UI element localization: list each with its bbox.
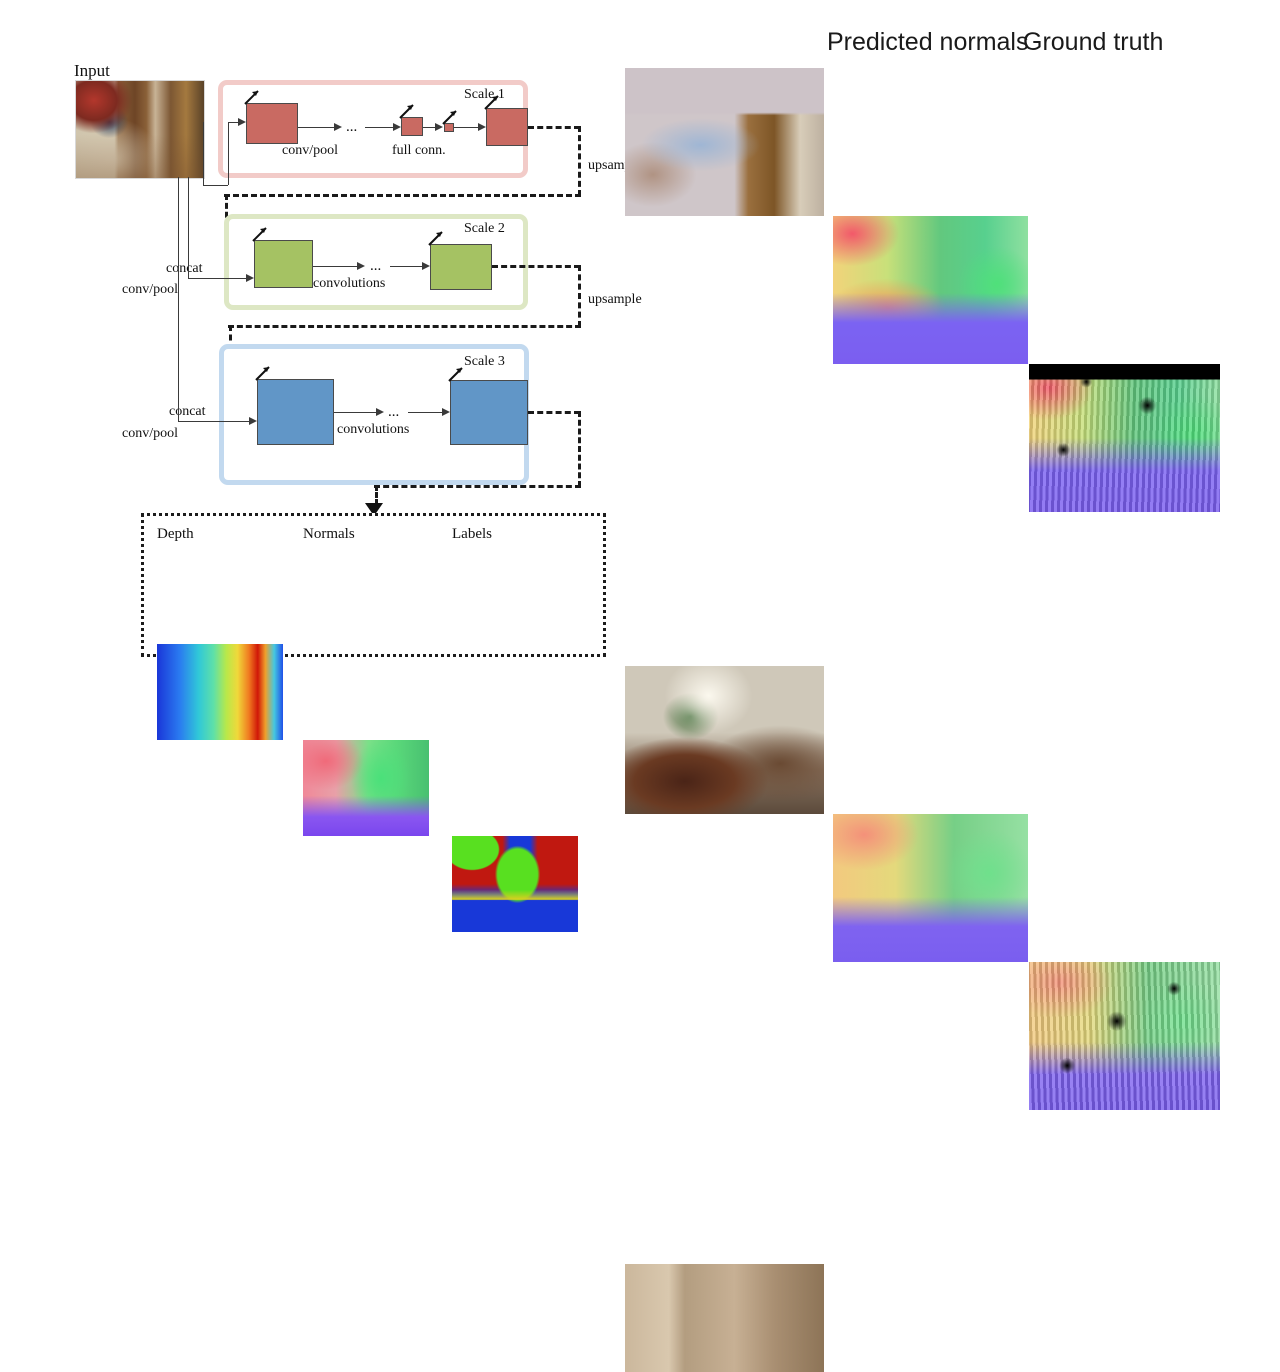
scale3-out-dash-down [375, 485, 378, 505]
scale1-block-4-tick [483, 94, 501, 110]
row-1-ground-truth-normals [1029, 364, 1220, 512]
scale3-block-2-tick [447, 366, 465, 382]
upsample1-dash-vert [578, 126, 581, 196]
scale3-arrow2-line [408, 412, 442, 413]
scale3-out-dash-horz [528, 411, 580, 414]
scale2-convolutions-label: convolutions [313, 277, 385, 291]
scale2-arrow1-head [357, 262, 365, 270]
scale2-convpool-label: conv/pool [122, 283, 178, 297]
scale2-block-1 [254, 240, 313, 288]
input-to-scale2-horz [188, 278, 246, 279]
upsample2-dash-vert [578, 265, 581, 327]
scale1-entry-arrow [238, 118, 246, 126]
scale-3-title: Scale 3 [464, 355, 505, 369]
output-labels-thumb [452, 836, 578, 932]
scale1-entry-line [228, 122, 238, 123]
results-grid: Predicted normals Ground truth [612, 0, 1280, 686]
scale2-block-2-tick [427, 230, 445, 246]
input-photo [75, 80, 205, 179]
architecture-diagram: Input Scale 1 ... conv/pool full c [0, 0, 612, 686]
input-label: Input [74, 62, 110, 79]
scale1-arrow3-line [423, 127, 435, 128]
row-2-predicted-normals [833, 814, 1028, 962]
outputs-panel [141, 513, 606, 657]
scale1-arrow4-head [478, 123, 486, 131]
scale2-block-2 [430, 244, 492, 290]
upsample1-dash-back [224, 194, 581, 197]
scale1-ellipsis: ... [346, 120, 357, 135]
scale3-block-1-tick [254, 365, 272, 381]
scale2-arrow1-line [313, 266, 357, 267]
upsample2-dash-back [228, 325, 581, 328]
input-to-scale2-vert [188, 177, 189, 278]
scale3-out-dash-vert [578, 411, 581, 487]
scale1-arrow1-head [334, 123, 342, 131]
input-to-scale3-vert [178, 177, 179, 421]
scale3-ellipsis: ... [388, 405, 399, 420]
scale1-block-2 [401, 117, 423, 136]
output-normals-thumb [303, 740, 429, 836]
output-labels-label: Labels [452, 527, 492, 542]
scale3-out-dash-back [374, 485, 581, 488]
scale3-arrow1-line [334, 412, 376, 413]
header-ground-truth: Ground truth [1023, 30, 1163, 55]
scale1-convpool-label: conv/pool [282, 144, 338, 158]
row-2-ground-truth-normals [1029, 962, 1220, 1110]
scale1-arrow2-line [365, 127, 393, 128]
scale3-concat-label: concat [169, 405, 206, 419]
scale1-fullconn-label: full conn. [392, 144, 446, 158]
scale3-arrow1-head [376, 408, 384, 416]
scale3-block-2 [450, 380, 528, 445]
output-depth-label: Depth [157, 527, 194, 542]
scale2-feed-arrow [246, 274, 254, 282]
input-to-scale1-horz [203, 185, 228, 186]
row-3-rgb-image [625, 1264, 824, 1372]
scale1-block-2-tick [398, 103, 416, 119]
scale1-arrow4-line [454, 127, 478, 128]
scale2-arrow2-head [422, 262, 430, 270]
row-1-predicted-normals [833, 216, 1028, 364]
scale2-block-1-tick [251, 226, 269, 242]
scale1-block-3-tick [441, 109, 459, 125]
scale2-concat-label: concat [166, 262, 203, 276]
input-to-scale3-horz [178, 421, 249, 422]
row-2-rgb-image [625, 666, 824, 814]
row-1-rgb-image [625, 68, 824, 216]
figure-root: Input Scale 1 ... conv/pool full c [0, 0, 1280, 686]
scale3-convpool-label: conv/pool [122, 427, 178, 441]
scale3-block-1 [257, 379, 334, 445]
scale3-convolutions-label: convolutions [337, 423, 409, 437]
scale3-feed-arrow [249, 417, 257, 425]
scale1-block-1 [246, 103, 298, 144]
header-predicted-normals: Predicted normals [827, 30, 1028, 55]
scale1-arrow1-line [298, 127, 334, 128]
scale1-block-1-tick [243, 89, 261, 105]
scale-2-title: Scale 2 [464, 222, 505, 236]
scale1-block-4 [486, 108, 528, 146]
scale3-arrow2-head [442, 408, 450, 416]
scale2-ellipsis: ... [370, 259, 381, 274]
input-to-scale1-vert [203, 122, 204, 185]
input-to-scale1-vert2 [228, 122, 229, 185]
output-depth-thumb [157, 644, 283, 740]
scale1-arrow2-head [393, 123, 401, 131]
upsample2-dash-horz [492, 265, 580, 268]
scale2-arrow2-line [390, 266, 422, 267]
upsample1-dash-horz [528, 126, 580, 129]
output-normals-label: Normals [303, 527, 355, 542]
